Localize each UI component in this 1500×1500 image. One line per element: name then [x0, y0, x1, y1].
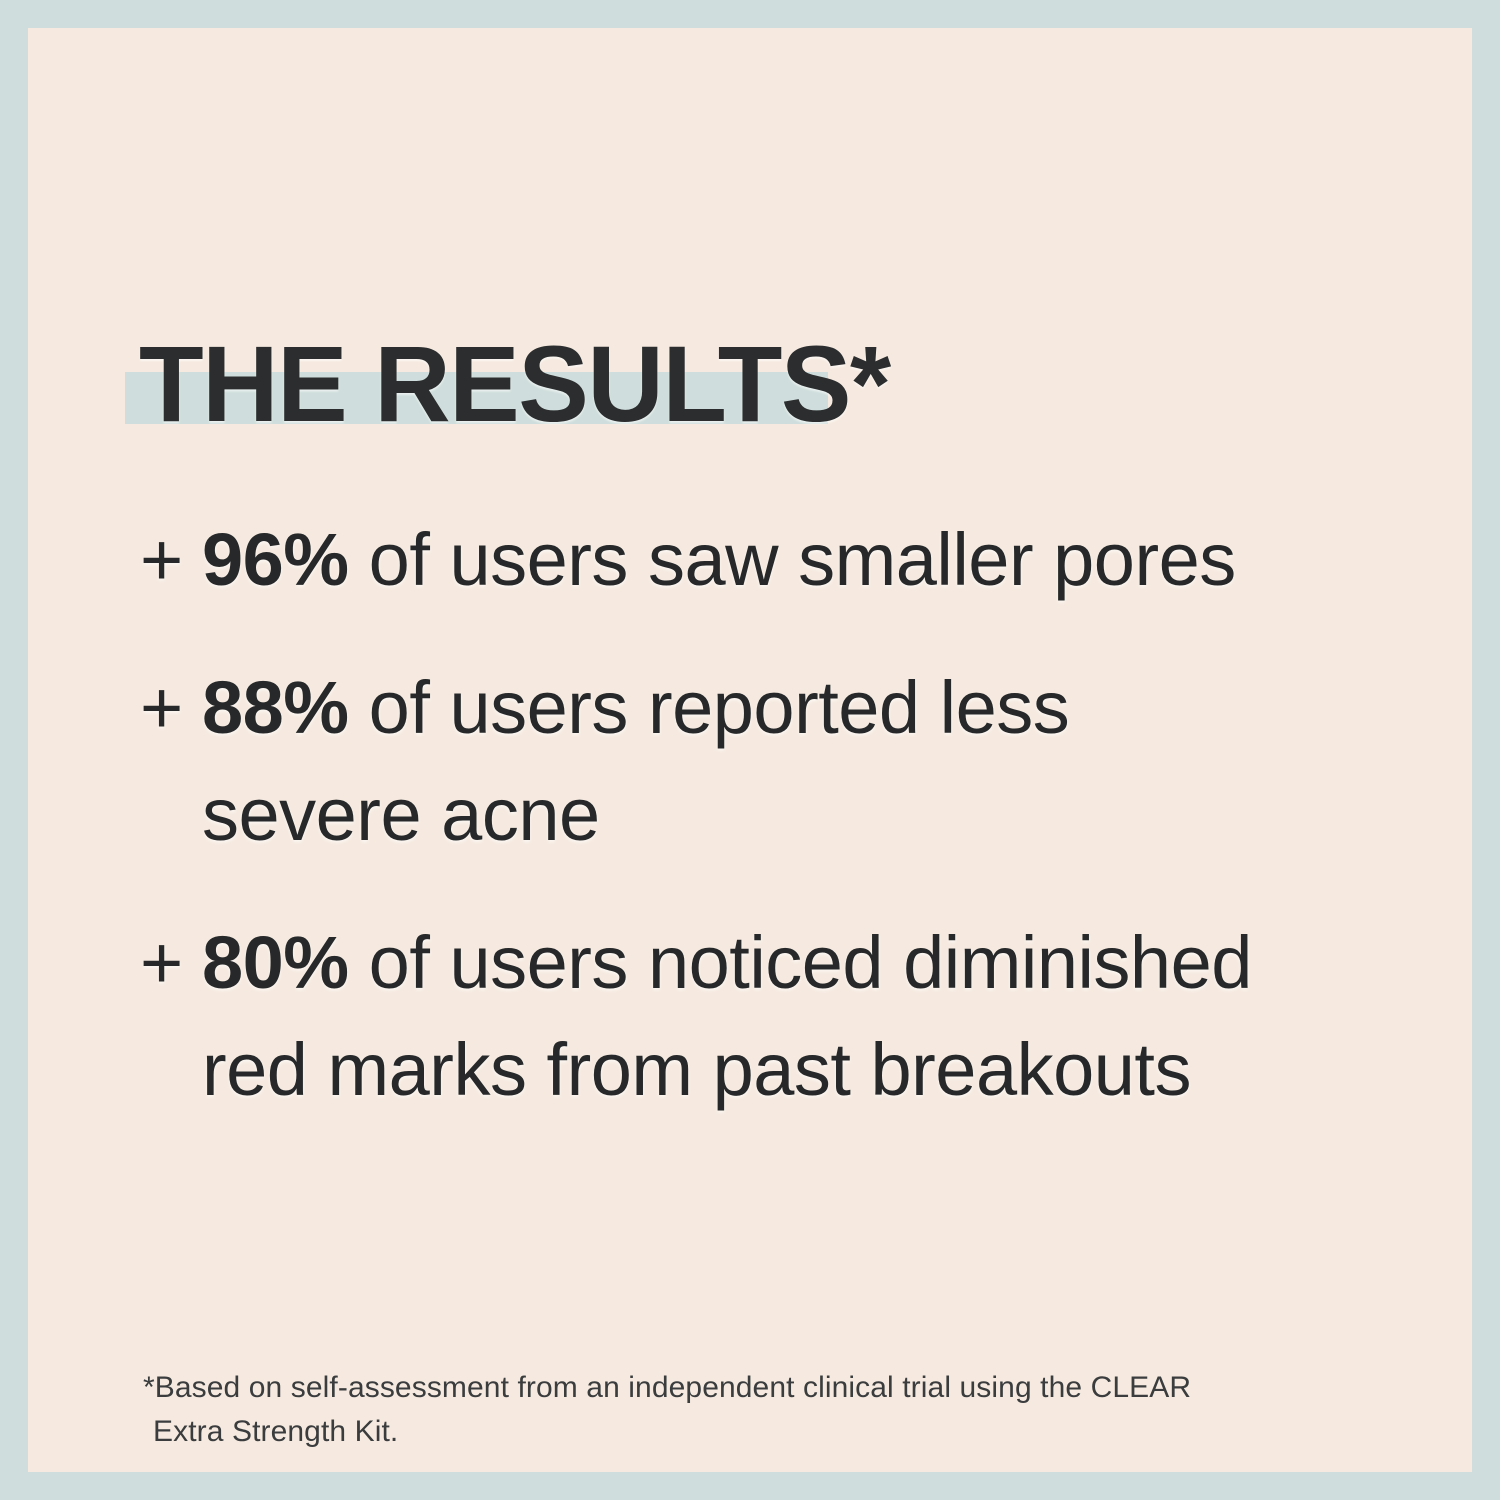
result-item-1-line-1: +96% of users saw smaller pores	[140, 506, 1440, 613]
result-percent: 80%	[202, 921, 349, 1004]
result-item-3-line-2: red marks from past breakouts	[140, 1016, 1440, 1123]
result-item-2-line-1: +88% of users reported less	[140, 654, 1440, 761]
footnote-line-1: *Based on self-assessment from an indepe…	[143, 1366, 1423, 1410]
result-percent: 96%	[202, 518, 349, 601]
result-text-line-1: of users reported less	[369, 666, 1070, 749]
content-panel: THE RESULTS* +96% of users saw smaller p…	[28, 28, 1472, 1472]
result-text-line-1: of users saw smaller pores	[369, 518, 1236, 601]
result-item-3-line-1: +80% of users noticed diminished	[140, 909, 1440, 1016]
footnote-line-2: Extra Strength Kit.	[143, 1410, 1423, 1454]
results-list: +96% of users saw smaller pores +88% of …	[140, 506, 1440, 1123]
result-item-1: +96% of users saw smaller pores	[140, 506, 1440, 613]
result-text-line-1: of users noticed diminished	[369, 921, 1252, 1004]
outer-frame: THE RESULTS* +96% of users saw smaller p…	[0, 0, 1500, 1500]
plus-marker: +	[140, 909, 202, 1016]
result-text	[349, 921, 369, 1004]
plus-marker: +	[140, 506, 202, 613]
result-item-3: +80% of users noticed diminished red mar…	[140, 909, 1440, 1123]
result-text	[349, 518, 369, 601]
result-item-2-line-2: severe acne	[140, 761, 1440, 868]
heading-label: THE RESULTS*	[139, 334, 890, 434]
plus-marker: +	[140, 654, 202, 761]
footnote: *Based on self-assessment from an indepe…	[143, 1366, 1423, 1454]
result-text	[349, 666, 369, 749]
result-percent: 88%	[202, 666, 349, 749]
result-item-2: +88% of users reported less severe acne	[140, 654, 1440, 868]
